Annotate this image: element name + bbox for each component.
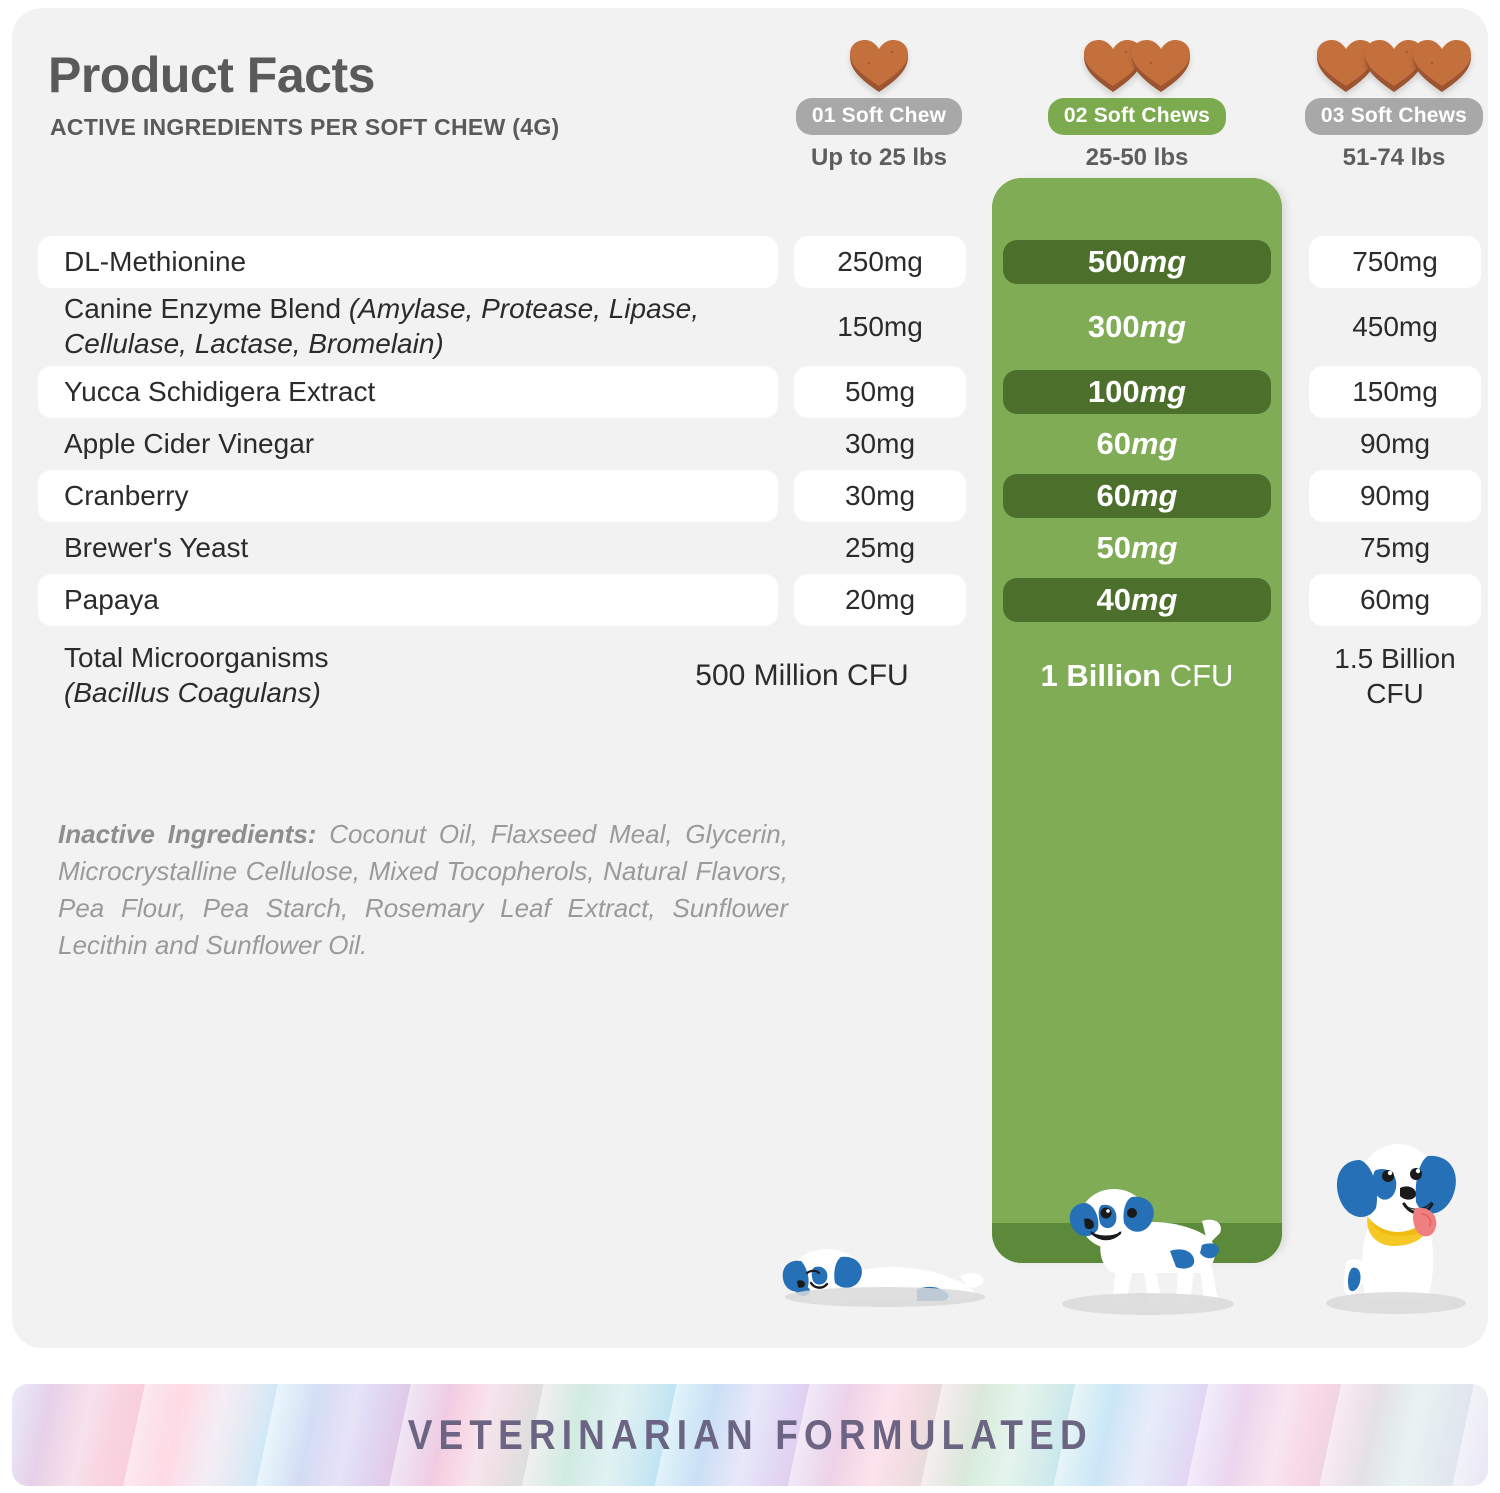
page-subtitle: ACTIVE INGREDIENTS PER SOFT CHEW (4G) (50, 114, 559, 141)
dog-shadow (1326, 1292, 1466, 1314)
soft-chew-icons-2 (1017, 26, 1257, 94)
ingredient-name: Brewer's Yeast (64, 522, 764, 574)
soft-chew-icons-3 (1274, 26, 1488, 94)
dog-shadow (785, 1287, 985, 1307)
soft-chew-icons-1 (759, 26, 999, 94)
ingredient-dose-3: 75mg (1309, 522, 1481, 574)
table-row: Cranberry 30mg 60mg 90mg (12, 470, 1488, 522)
table-row: Brewer's Yeast 25mg 50mg 75mg (12, 522, 1488, 574)
dose-weight-1: Up to 25 lbs (759, 144, 999, 172)
microorganisms-dose-2: 1 Billion CFU (1003, 626, 1271, 726)
ingredient-name: Cranberry (64, 470, 764, 522)
soft-chew-icon (848, 38, 910, 94)
ingredient-dose-1: 20mg (794, 574, 966, 626)
ingredient-name: Yucca Schidigera Extract (64, 366, 764, 418)
table-row: Papaya 20mg 40mg 60mg (12, 574, 1488, 626)
ingredient-name: DL-Methionine (64, 236, 764, 288)
dog-shadow (1062, 1293, 1234, 1315)
ingredient-dose-1: 30mg (794, 418, 966, 470)
table-row: Apple Cider Vinegar 30mg 60mg 90mg (12, 418, 1488, 470)
ingredient-dose-1: 25mg (794, 522, 966, 574)
microorganisms-dose-3: 1.5 Billion CFU (1309, 626, 1481, 726)
ingredient-dose-2: 60mg (1003, 470, 1271, 522)
veterinarian-formulated-banner: VETERINARIAN FORMULATED (12, 1384, 1488, 1486)
inactive-ingredients-label: Inactive Ingredients: (58, 819, 316, 849)
ingredient-dose-1: 150mg (794, 288, 966, 366)
banner-text: VETERINARIAN FORMULATED (407, 1411, 1092, 1459)
dose-badge-1: 01 Soft Chew (796, 98, 962, 135)
sitting-dog-svg (1304, 1126, 1484, 1318)
soft-chew-icon (1411, 38, 1473, 94)
ingredient-name: Canine Enzyme Blend (Amylase, Protease, … (64, 288, 764, 366)
ingredient-dose-3: 450mg (1309, 288, 1481, 366)
dose-weight-2: 25-50 lbs (1017, 144, 1257, 172)
ingredient-dose-2: 40mg (1003, 574, 1271, 626)
ingredient-dose-2: 300mg (1003, 288, 1271, 366)
ingredient-dose-2: 500mg (1003, 236, 1271, 288)
ingredient-dose-3: 60mg (1309, 574, 1481, 626)
dog-illustration-small (767, 1223, 1007, 1313)
soft-chew-icon (1130, 38, 1192, 94)
ingredients-table: DL-Methionine 250mg 500mg 750mg Canine E… (12, 236, 1488, 726)
ingredient-dose-3: 90mg (1309, 470, 1481, 522)
microorganisms-dose-1: 500 Million CFU (652, 626, 952, 726)
page-title: Product Facts (48, 46, 375, 104)
dog-illustration-medium (1052, 1173, 1242, 1318)
dose-badge-2: 02 Soft Chews (1048, 98, 1226, 135)
table-row: DL-Methionine 250mg 500mg 750mg (12, 236, 1488, 288)
ingredient-dose-2: 50mg (1003, 522, 1271, 574)
dog-illustration-large (1304, 1126, 1484, 1318)
ingredient-dose-1: 50mg (794, 366, 966, 418)
ingredient-dose-1: 250mg (794, 236, 966, 288)
table-row-microorganisms: Total Microorganisms(Bacillus Coagulans)… (12, 626, 1488, 726)
product-facts-card: Product Facts ACTIVE INGREDIENTS PER SOF… (12, 8, 1488, 1348)
dose-column-header-1: 01 Soft Chew Up to 25 lbs (759, 26, 999, 172)
dose-weight-3: 51-74 lbs (1274, 144, 1488, 172)
dose-column-header-2: 02 Soft Chews 25-50 lbs (1017, 26, 1257, 172)
table-row: Yucca Schidigera Extract 50mg 100mg 150m… (12, 366, 1488, 418)
ingredient-dose-1: 30mg (794, 470, 966, 522)
ingredient-dose-3: 90mg (1309, 418, 1481, 470)
dose-column-header-3: 03 Soft Chews 51-74 lbs (1274, 26, 1488, 172)
inactive-ingredients: Inactive Ingredients: Coconut Oil, Flaxs… (58, 816, 788, 964)
ingredient-dose-3: 150mg (1309, 366, 1481, 418)
ingredient-dose-3: 750mg (1309, 236, 1481, 288)
dose-badge-3: 03 Soft Chews (1305, 98, 1483, 135)
table-row: Canine Enzyme Blend (Amylase, Protease, … (12, 288, 1488, 366)
heart-chew-icon (848, 38, 910, 94)
ingredient-dose-2: 100mg (1003, 366, 1271, 418)
ingredient-name: Papaya (64, 574, 764, 626)
ingredient-dose-2: 60mg (1003, 418, 1271, 470)
heart-chew-icon (1130, 38, 1192, 94)
ingredient-name: Apple Cider Vinegar (64, 418, 764, 470)
heart-chew-icon (1411, 38, 1473, 94)
